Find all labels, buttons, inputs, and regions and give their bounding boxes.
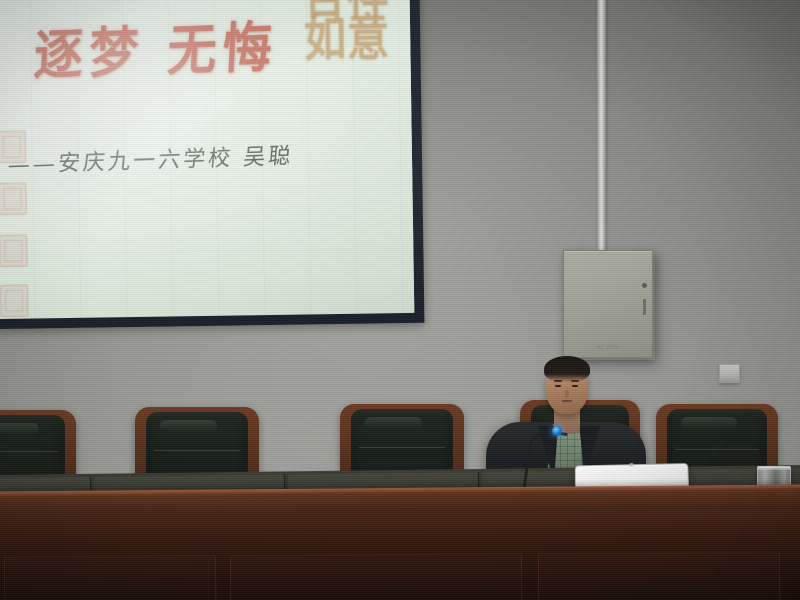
glass-rim [757,466,791,470]
table-panel [538,552,780,600]
box-seam [643,299,646,315]
chair-seam [675,449,759,450]
chair-highlight [365,417,422,429]
microphone-led-icon [552,426,562,436]
wall-socket[interactable] [719,364,740,383]
eyebrow-left [554,380,562,382]
table-panel [230,553,522,600]
chair-highlight [681,417,737,429]
photo-scene: AC 220V 吉祥如意 逐梦 无悔 ——安庆九一六学校 吴聪 [0,0,800,600]
hair [544,356,590,382]
projection-screen-frame: 吉祥如意 逐梦 无悔 ——安庆九一六学校 吴聪 [0,0,424,329]
chair-seam [154,450,240,451]
laptop-hinge [629,463,633,466]
chair-highlight [0,423,39,435]
eyebrow-right [571,380,579,382]
projection-screen-canvas: 吉祥如意 逐梦 无悔 ——安庆九一六学校 吴聪 [0,0,414,319]
projector-glow [0,0,414,319]
eye-left [555,385,561,387]
electrical-box: AC 220V [563,250,653,358]
nose [565,390,569,398]
box-latch-icon [642,283,647,288]
chair-highlight [160,420,217,432]
table-panel [4,555,216,600]
eye-right [572,385,578,387]
conference-table-front [0,509,800,600]
mouth [562,400,572,402]
electrical-box-label: AC 220V [597,345,620,351]
chair-seam [359,447,445,448]
conduit-pipe [597,0,606,250]
chair-seam [0,451,58,452]
